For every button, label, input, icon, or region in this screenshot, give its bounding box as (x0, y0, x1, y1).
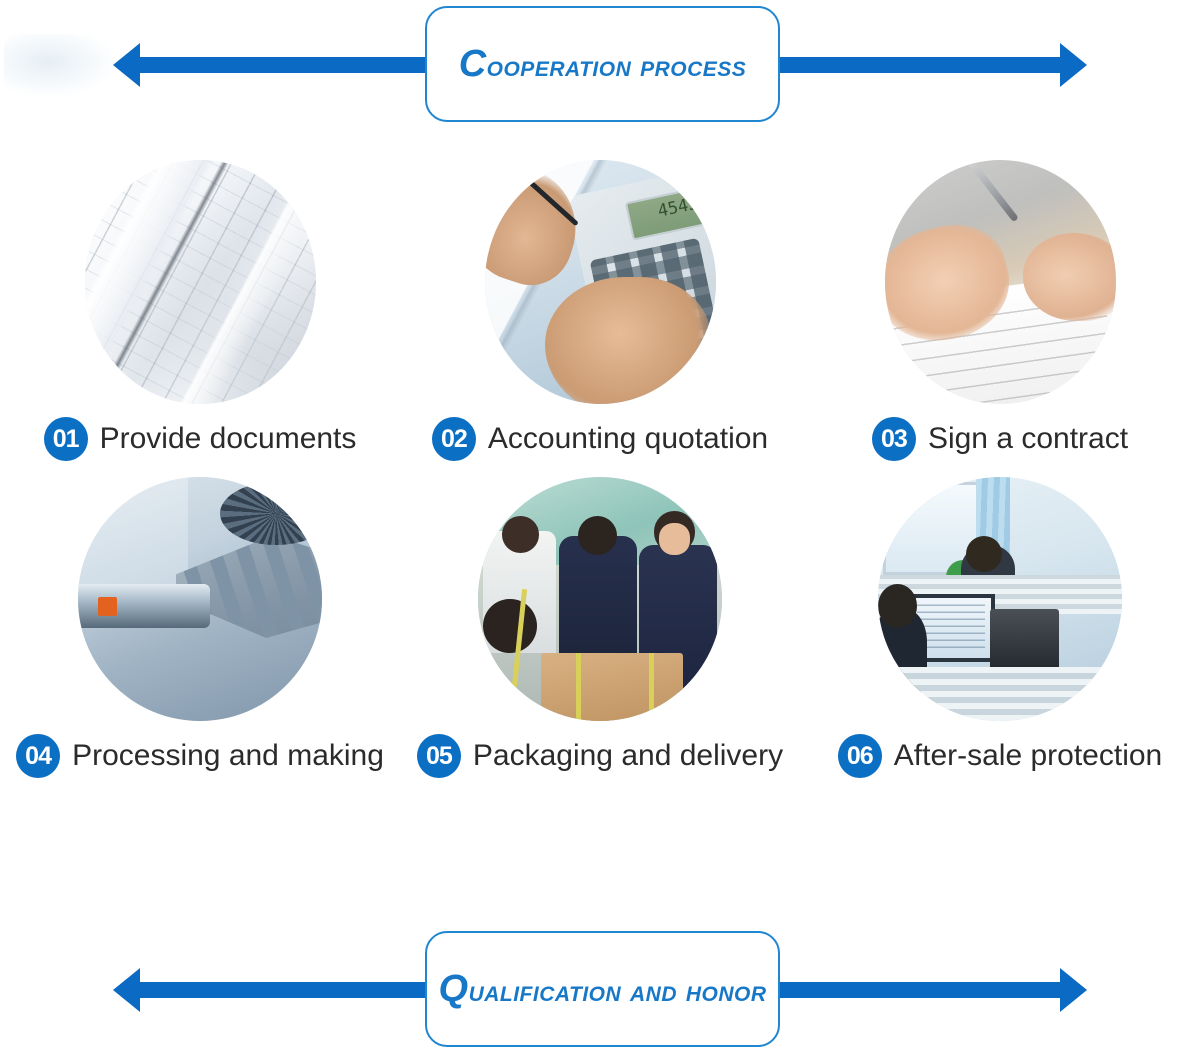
step-card-03[interactable]: 03 Sign a contract (800, 160, 1200, 462)
step-number-badge: 04 (16, 734, 60, 778)
step-caption: 05 Packaging and delivery (417, 733, 783, 779)
photo-cnc-machining (78, 477, 322, 721)
step-label: Packaging and delivery (473, 739, 783, 773)
arrow-left-shaft (137, 57, 427, 73)
process-steps-grid: 01 Provide documents 4545 02 Accounting … (0, 160, 1200, 779)
photo-calculator: 4545 (485, 160, 716, 404)
photo-packaging (478, 477, 722, 721)
step-number-badge: 01 (44, 417, 88, 461)
step-card-02[interactable]: 4545 02 Accounting quotation (400, 160, 800, 462)
step-label: After-sale protection (894, 739, 1162, 773)
step-number-badge: 02 (432, 417, 476, 461)
bottom-banner-box: Qualification and honor (425, 931, 780, 1047)
step-label: Processing and making (72, 739, 384, 773)
step-caption: 03 Sign a contract (872, 416, 1128, 462)
photo-blueprints (85, 160, 316, 404)
step-caption: 04 Processing and making (16, 733, 384, 779)
top-banner: Cooperation process (0, 0, 1200, 130)
arrow-left-icon (113, 43, 140, 87)
steps-row-2: 04 Processing and making 05 Packaging an… (0, 462, 1200, 779)
arrow-right-shaft (773, 57, 1063, 73)
step-number-badge: 05 (417, 734, 461, 778)
step-caption: 06 After-sale protection (838, 733, 1162, 779)
step-number-badge: 03 (872, 417, 916, 461)
arrow-right-shaft (773, 982, 1063, 998)
step-label: Provide documents (100, 422, 357, 456)
photo-signing (885, 160, 1116, 404)
top-banner-box: Cooperation process (425, 6, 780, 122)
arrow-right-icon (1060, 43, 1087, 87)
step-caption: 01 Provide documents (44, 416, 357, 462)
step-card-05[interactable]: 05 Packaging and delivery (400, 477, 800, 779)
arrow-left-shaft (137, 982, 427, 998)
step-card-06[interactable]: 06 After-sale protection (800, 477, 1200, 779)
step-label: Sign a contract (928, 422, 1128, 456)
arrow-left-icon (113, 968, 140, 1012)
top-banner-title: Cooperation process (459, 43, 747, 86)
step-label: Accounting quotation (488, 422, 768, 456)
step-number-badge: 06 (838, 734, 882, 778)
bottom-banner-title: Qualification and honor (439, 968, 767, 1011)
step-card-04[interactable]: 04 Processing and making (0, 477, 400, 779)
step-caption: 02 Accounting quotation (432, 416, 768, 462)
photo-office-support (878, 477, 1122, 721)
step-card-01[interactable]: 01 Provide documents (0, 160, 400, 462)
bottom-banner: Qualification and honor (0, 925, 1200, 1055)
steps-row-1: 01 Provide documents 4545 02 Accounting … (0, 160, 1200, 462)
arrow-right-icon (1060, 968, 1087, 1012)
